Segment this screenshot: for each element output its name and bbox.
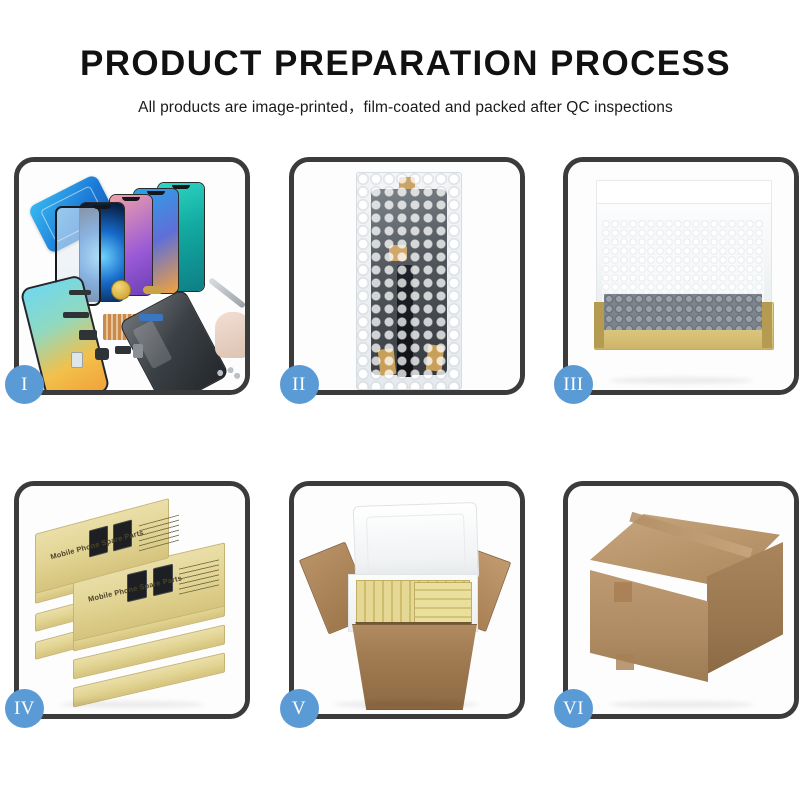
spare-part-icon (143, 286, 163, 294)
gold-connector-icon (377, 348, 396, 376)
carton-tape-mark (616, 654, 634, 670)
carton-tape-mark (614, 582, 632, 602)
gold-connector-icon (425, 344, 444, 372)
header: PRODUCT PREPARATION PROCESS All products… (0, 0, 811, 117)
process-row-top: I II (14, 157, 799, 395)
process-step-1[interactable]: I (14, 157, 250, 395)
kraft-box-stack: Mobile Phone Spare Parts Mobile Phone Sp… (27, 510, 239, 702)
spare-part-icon (139, 314, 163, 321)
spare-part-icon (115, 346, 131, 354)
hand-graphic (215, 312, 245, 358)
step-6-image (568, 486, 794, 714)
step-badge-1: I (5, 365, 44, 404)
bubble-wrap-bag (356, 172, 462, 390)
step-1-image (19, 162, 245, 390)
spare-part-icon (69, 290, 91, 295)
open-carton-body (344, 624, 486, 710)
product-preparation-page: PRODUCT PREPARATION PROCESS All products… (0, 0, 811, 811)
step-badge-6: VI (554, 689, 593, 728)
step-badge-3: III (554, 365, 593, 404)
tape-piece-icon (389, 245, 407, 261)
step-4-image: Mobile Phone Spare Parts Mobile Phone Sp… (19, 486, 245, 714)
spare-part-icon (79, 330, 97, 340)
foam-lid (352, 502, 479, 584)
step-2-image (294, 162, 520, 390)
step-5-image (294, 486, 520, 714)
drop-shadow (609, 377, 754, 384)
process-step-4[interactable]: Mobile Phone Spare Parts Mobile Phone Sp… (14, 481, 250, 719)
process-step-6[interactable]: VI (563, 481, 799, 719)
coil-part-icon (111, 280, 131, 300)
step-badge-5: V (280, 689, 319, 728)
tray-edge-left (594, 302, 604, 348)
kraft-boxes-inside (414, 582, 472, 626)
process-step-3[interactable]: III (563, 157, 799, 395)
spare-part-icon (71, 352, 83, 368)
drop-shadow (334, 701, 479, 708)
process-step-5[interactable]: V (289, 481, 525, 719)
step-badge-2: II (280, 365, 319, 404)
spare-part-icon (133, 344, 143, 358)
tray-edge-right (762, 302, 772, 348)
screws-icon (215, 366, 241, 380)
step-3-image (568, 162, 794, 390)
process-step-grid: I II (14, 157, 799, 719)
step-badge-4: IV (5, 689, 44, 728)
carton-front-face (590, 570, 708, 682)
drop-shadow (60, 701, 205, 708)
spare-part-icon (63, 312, 89, 318)
process-row-bottom: Mobile Phone Spare Parts Mobile Phone Sp… (14, 481, 799, 719)
process-step-2[interactable]: II (289, 157, 525, 395)
page-title: PRODUCT PREPARATION PROCESS (0, 46, 811, 81)
spare-part-icon (95, 348, 109, 360)
drop-shadow (609, 701, 754, 708)
page-subtitle: All products are image-printed，film-coat… (0, 95, 811, 117)
phone-backplate-graphic (118, 288, 229, 390)
tape-piece-icon (399, 177, 415, 189)
flex-cable (397, 265, 413, 377)
box-lid-lip (596, 180, 772, 204)
bubble-wrapped-contents (604, 294, 762, 330)
